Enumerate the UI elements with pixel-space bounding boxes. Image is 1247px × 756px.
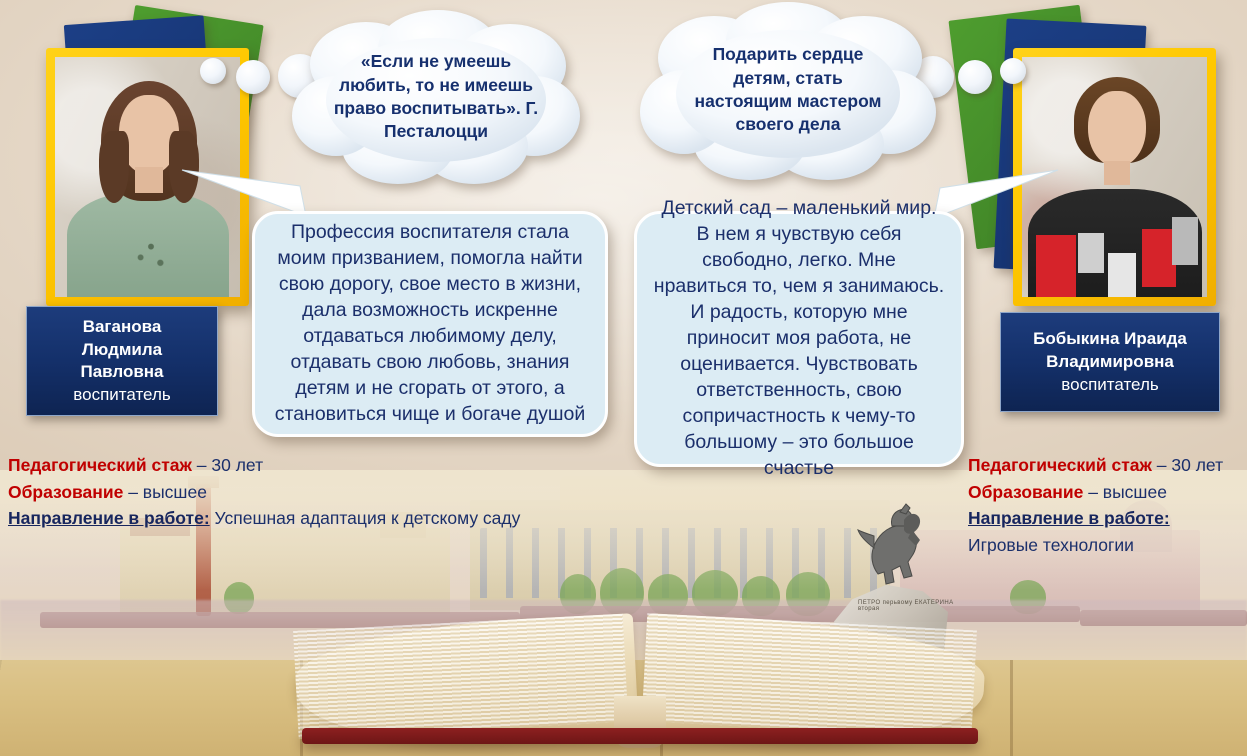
teacher-name-line1: Бобыкина Ираида xyxy=(1001,328,1219,351)
direction-label: Направление в работе: xyxy=(968,508,1170,528)
nameplate-left: Ваганова Людмила Павловна воспитатель xyxy=(26,306,218,416)
thought-cloud-left: «Если не умеешь любить, то не имеешь пра… xyxy=(288,8,584,186)
education-value: – высшее xyxy=(123,482,207,502)
experience-value: – 30 лет xyxy=(192,455,263,475)
thought-dot-medium-right xyxy=(958,60,992,94)
thought-dot-medium-left xyxy=(236,60,270,94)
teacher-name-line2: Владимировна xyxy=(1001,351,1219,374)
teacher-name-line3: Павловна xyxy=(27,361,217,384)
education-label: Образование xyxy=(968,482,1083,502)
experience-row-right: Педагогический стаж – 30 лет xyxy=(968,452,1223,479)
info-block-right: Педагогический стаж – 30 лет Образование… xyxy=(968,452,1223,558)
poster-canvas: ПЕТРО перьвому ЕКАТЕРИНА вторая xyxy=(0,0,1247,756)
thought-cloud-right: Подарить сердце детям, стать настоящим м… xyxy=(638,0,938,180)
teacher-name-line1: Ваганова xyxy=(27,316,217,339)
education-value: – высшее xyxy=(1083,482,1167,502)
cloud-text-right: Подарить сердце детям, стать настоящим м… xyxy=(638,0,938,180)
teacher-role-left: воспитатель xyxy=(27,384,217,406)
direction-label: Направление в работе: xyxy=(8,508,210,528)
teacher-role-right: воспитатель xyxy=(1001,374,1219,396)
nameplate-right: Бобыкина Ираида Владимировна воспитатель xyxy=(1000,312,1220,412)
info-block-left: Педагогический стаж – 30 лет Образование… xyxy=(8,452,520,532)
experience-label: Педагогический стаж xyxy=(968,455,1152,475)
thought-dot-small-right xyxy=(1000,58,1026,84)
teacher-name-line2: Людмила xyxy=(27,339,217,362)
direction-row-left: Направление в работе: Успешная адаптация… xyxy=(8,505,520,532)
speech-bubble-right: Детский сад – маленький мир. В нем я чув… xyxy=(634,211,964,467)
experience-value: – 30 лет xyxy=(1152,455,1223,475)
open-book xyxy=(290,600,990,756)
education-row-left: Образование – высшее xyxy=(8,479,520,506)
direction-row-right: Направление в работе: xyxy=(968,505,1223,532)
direction-value: Успешная адаптация к детскому саду xyxy=(210,508,521,528)
experience-row-left: Педагогический стаж – 30 лет xyxy=(8,452,520,479)
plank-seam xyxy=(1010,660,1013,756)
experience-label: Педагогический стаж xyxy=(8,455,192,475)
education-row-right: Образование – высшее xyxy=(968,479,1223,506)
cloud-text-left: «Если не умеешь любить, то не имеешь пра… xyxy=(288,8,584,186)
direction-value-row-right: Игровые технологии xyxy=(968,532,1223,559)
speech-text-right: Детский сад – маленький мир. В нем я чув… xyxy=(637,186,961,491)
direction-value: Игровые технологии xyxy=(968,535,1134,555)
speech-text-left: Профессия воспитателя стала моим призван… xyxy=(255,210,605,437)
education-label: Образование xyxy=(8,482,123,502)
speech-bubble-left: Профессия воспитателя стала моим призван… xyxy=(252,211,608,437)
book-cover xyxy=(302,728,978,744)
thought-dot-small-left xyxy=(200,58,226,84)
